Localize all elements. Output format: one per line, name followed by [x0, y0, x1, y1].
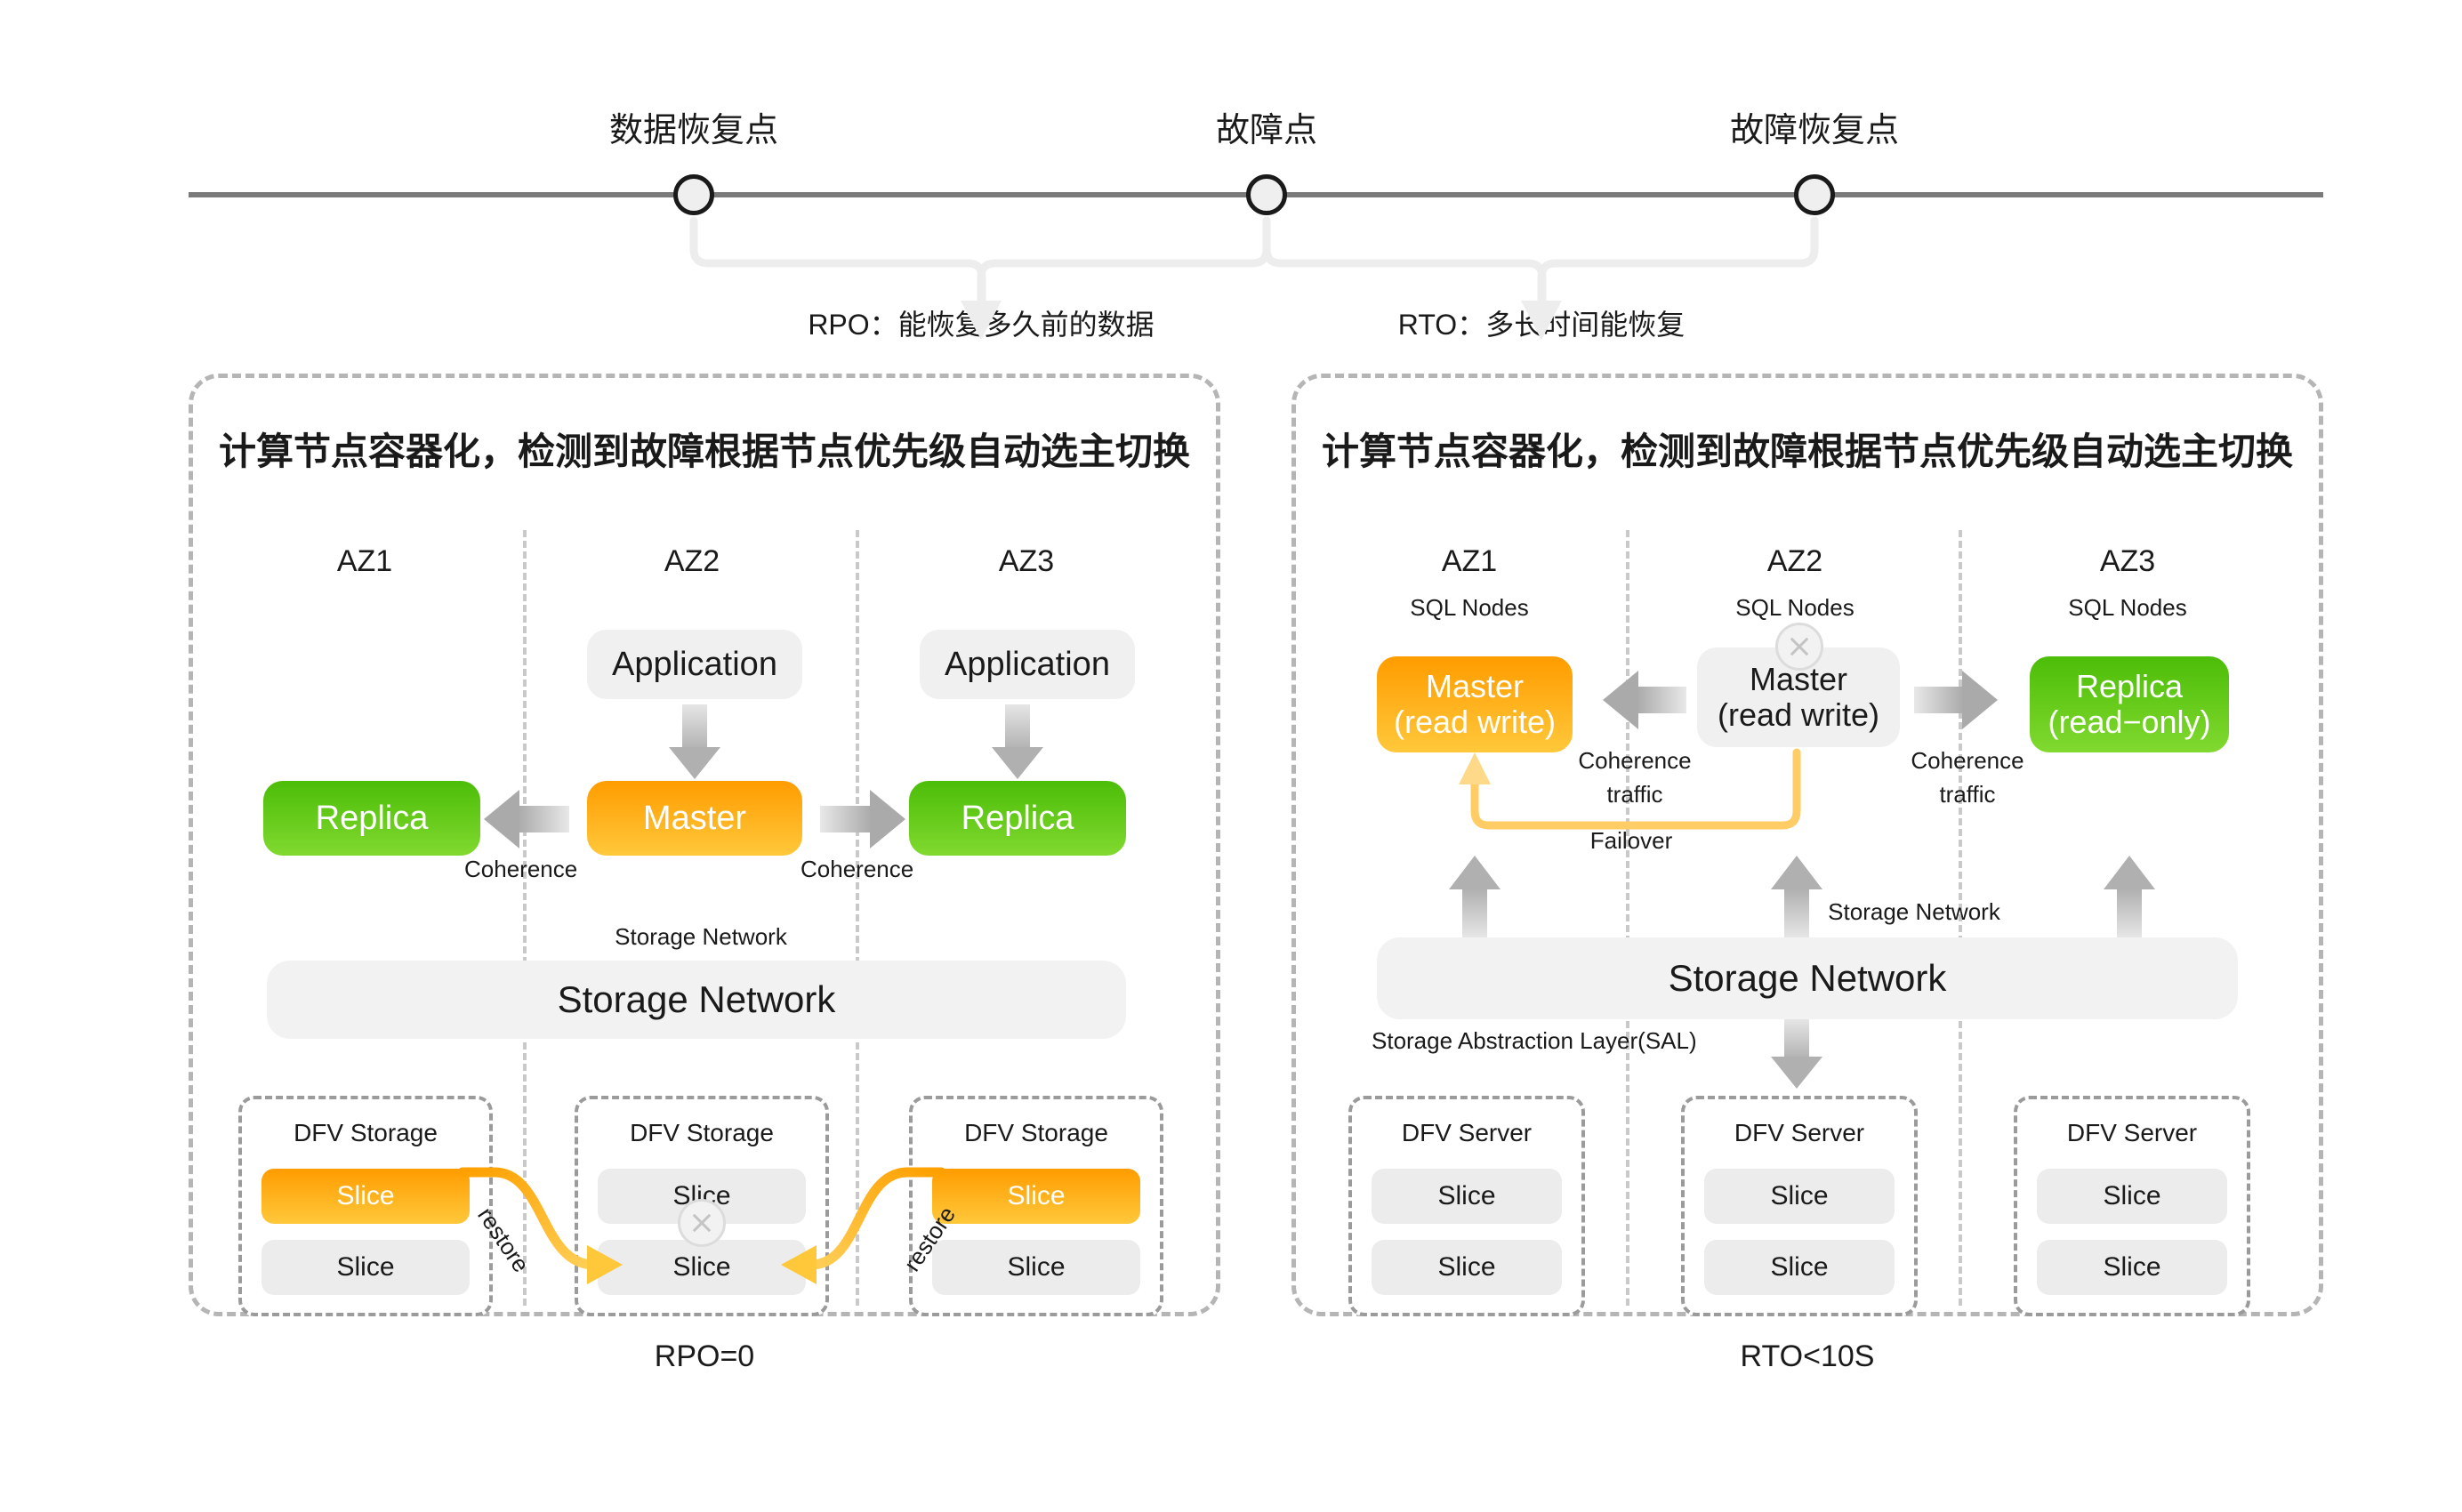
right-az-title-2: AZ2: [1767, 544, 1822, 579]
failure-x-icon-left-panel: [678, 1199, 726, 1247]
right-sql-nodes-label-2: SQL Nodes: [1735, 594, 1854, 622]
rto-brace-icon: [1267, 221, 1814, 302]
right-dfv-az1-slice-2[interactable]: Slice: [1372, 1240, 1562, 1295]
left-dfv-title-az2: DFV Storage: [578, 1119, 825, 1147]
left-dfv-az1-slice-2[interactable]: Slice: [261, 1240, 470, 1295]
right-az-separator-1: [1626, 530, 1629, 1306]
right-dfv-az2-slice-2[interactable]: Slice: [1704, 1240, 1895, 1295]
right-coherence-label-2-line1: Coherence: [1911, 747, 2024, 775]
timeline-dot-failure-point[interactable]: [1246, 174, 1287, 215]
right-panel-title: 计算节点容器化，检测到故障根据节点优先级自动选主切换: [1291, 422, 2323, 476]
timeline-label-0: 数据恢复点: [609, 102, 778, 151]
right-sal-label: Storage Abstraction Layer(SAL): [1372, 1027, 1697, 1055]
right-failover-label: Failover: [1590, 827, 1672, 855]
right-storage-network-caption: Storage Network: [1828, 898, 2000, 926]
left-replica-az3[interactable]: Replica: [909, 781, 1126, 856]
right-coherence-label-1-line2: traffic: [1606, 781, 1662, 808]
left-dfv-az2-slice-2[interactable]: Slice: [598, 1240, 806, 1295]
left-panel-title: 计算节点容器化，检测到故障根据节点优先级自动选主切换: [189, 422, 1220, 476]
left-application-az3[interactable]: Application: [920, 630, 1135, 699]
left-az-separator-1: [523, 530, 527, 1306]
left-dfv-az3-slice-2[interactable]: Slice: [932, 1240, 1140, 1295]
rpo-brace-icon: [694, 221, 1267, 302]
left-dfv-group-az1: DFV Storage Slice Slice: [238, 1096, 493, 1316]
right-storage-network-bar[interactable]: Storage Network: [1377, 937, 2238, 1019]
diagram-canvas: 数据恢复点 故障点 故障恢复点 RPO：能恢复多久前的数据 RTO：多长时间能恢…: [0, 0, 2462, 1512]
left-coherence-label-1: Coherence: [464, 856, 577, 883]
right-panel-footer: RTO<10S: [1741, 1339, 1875, 1374]
right-dfv-title-az2: DFV Server: [1685, 1119, 1914, 1147]
right-replica-az3[interactable]: Replica (read−only): [2030, 656, 2229, 752]
right-dfv-az2-slice-1[interactable]: Slice: [1704, 1169, 1895, 1224]
right-coherence-label-2-line2: traffic: [1939, 781, 1995, 808]
rto-annotation-text: RTO：多长时间能恢复: [1398, 302, 1685, 343]
left-dfv-title-az1: DFV Storage: [242, 1119, 489, 1147]
right-dfv-group-az3: DFV Server Slice Slice: [2014, 1096, 2250, 1316]
right-replica-az3-line1: Replica: [2076, 669, 2183, 704]
left-dfv-group-az3: DFV Storage Slice Slice: [909, 1096, 1163, 1316]
timeline-label-1: 故障点: [1216, 102, 1317, 151]
left-coherence-label-2: Coherence: [801, 856, 913, 883]
right-dfv-title-az3: DFV Server: [2017, 1119, 2247, 1147]
right-az-title-1: AZ1: [1442, 544, 1497, 579]
left-replica-az1[interactable]: Replica: [263, 781, 480, 856]
rpo-annotation-text: RPO：能恢复多久前的数据: [808, 302, 1154, 343]
right-master-az2-line2: (read write): [1718, 697, 1879, 733]
right-dfv-group-az1: DFV Server Slice Slice: [1348, 1096, 1585, 1316]
right-dfv-title-az1: DFV Server: [1352, 1119, 1581, 1147]
left-az-title-2: AZ2: [664, 544, 720, 579]
left-az-separator-2: [856, 530, 859, 1306]
right-sql-nodes-label-3: SQL Nodes: [2068, 594, 2186, 622]
left-dfv-title-az3: DFV Storage: [913, 1119, 1160, 1147]
left-dfv-az3-slice-1[interactable]: Slice: [932, 1169, 1140, 1224]
right-dfv-group-az2: DFV Server Slice Slice: [1681, 1096, 1918, 1316]
timeline-label-2: 故障恢复点: [1730, 102, 1899, 151]
left-az-title-1: AZ1: [337, 544, 392, 579]
left-storage-network-bar[interactable]: Storage Network: [267, 961, 1126, 1039]
right-sql-nodes-label-1: SQL Nodes: [1410, 594, 1528, 622]
right-az-title-3: AZ3: [2100, 544, 2155, 579]
timeline-dot-failure-recovery-point[interactable]: [1794, 174, 1835, 215]
right-master-az1[interactable]: Master (read write): [1377, 656, 1573, 752]
left-master-az2[interactable]: Master: [587, 781, 802, 856]
right-dfv-az1-slice-1[interactable]: Slice: [1372, 1169, 1562, 1224]
left-storage-network-caption: Storage Network: [615, 923, 787, 951]
left-panel-footer: RPO=0: [655, 1339, 754, 1374]
left-application-az2[interactable]: Application: [587, 630, 802, 699]
right-dfv-az3-slice-2[interactable]: Slice: [2037, 1240, 2227, 1295]
left-az-title-3: AZ3: [999, 544, 1054, 579]
left-dfv-az1-slice-1[interactable]: Slice: [261, 1169, 470, 1224]
right-dfv-az3-slice-1[interactable]: Slice: [2037, 1169, 2227, 1224]
timeline-dot-data-recovery-point[interactable]: [673, 174, 714, 215]
right-master-az1-line1: Master: [1426, 669, 1524, 704]
right-replica-az3-line2: (read−only): [2048, 704, 2210, 740]
failure-x-icon-right-panel: [1775, 623, 1823, 671]
right-master-az1-line2: (read write): [1394, 704, 1556, 740]
right-coherence-label-1-line1: Coherence: [1578, 747, 1691, 775]
